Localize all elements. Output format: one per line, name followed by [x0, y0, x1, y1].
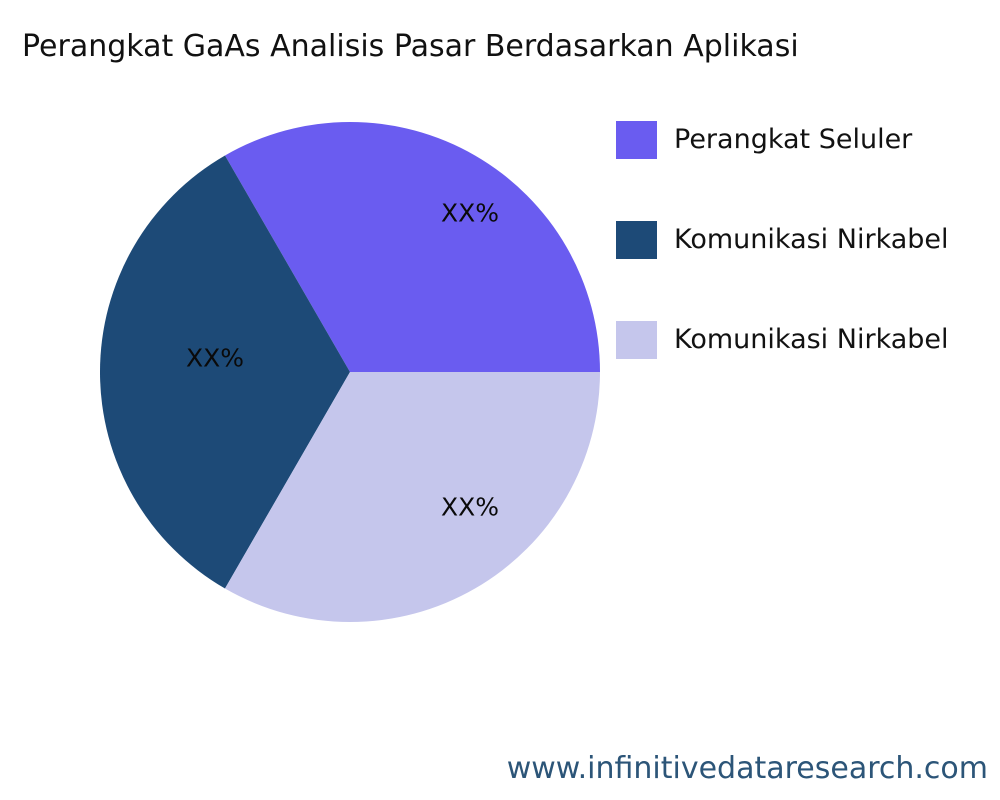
legend-item-0[interactable]: Perangkat Seluler: [616, 118, 1000, 218]
pie-slice-label-1: XX%: [186, 346, 244, 371]
pie-chart: XX%XX%XX%: [0, 0, 700, 700]
legend-swatch-icon-2: [616, 321, 657, 359]
legend-label-0: Perangkat Seluler: [674, 118, 912, 162]
pie-slice-label-2: XX%: [441, 201, 499, 226]
chart-legend: Perangkat Seluler Komunikasi Nirkabel Ko…: [616, 118, 1000, 418]
legend-item-1[interactable]: Komunikasi Nirkabel: [616, 218, 1000, 318]
legend-item-2[interactable]: Komunikasi Nirkabel: [616, 318, 1000, 418]
legend-swatch-icon-0: [616, 121, 657, 159]
legend-label-1: Komunikasi Nirkabel: [674, 218, 949, 262]
pie-slice-label-0: XX%: [441, 495, 499, 520]
source-url[interactable]: www.infinitivedataresearch.com: [507, 752, 988, 786]
legend-label-2: Komunikasi Nirkabel: [674, 318, 949, 362]
pie-chart-svg: [0, 0, 700, 700]
legend-swatch-icon-1: [616, 221, 657, 259]
